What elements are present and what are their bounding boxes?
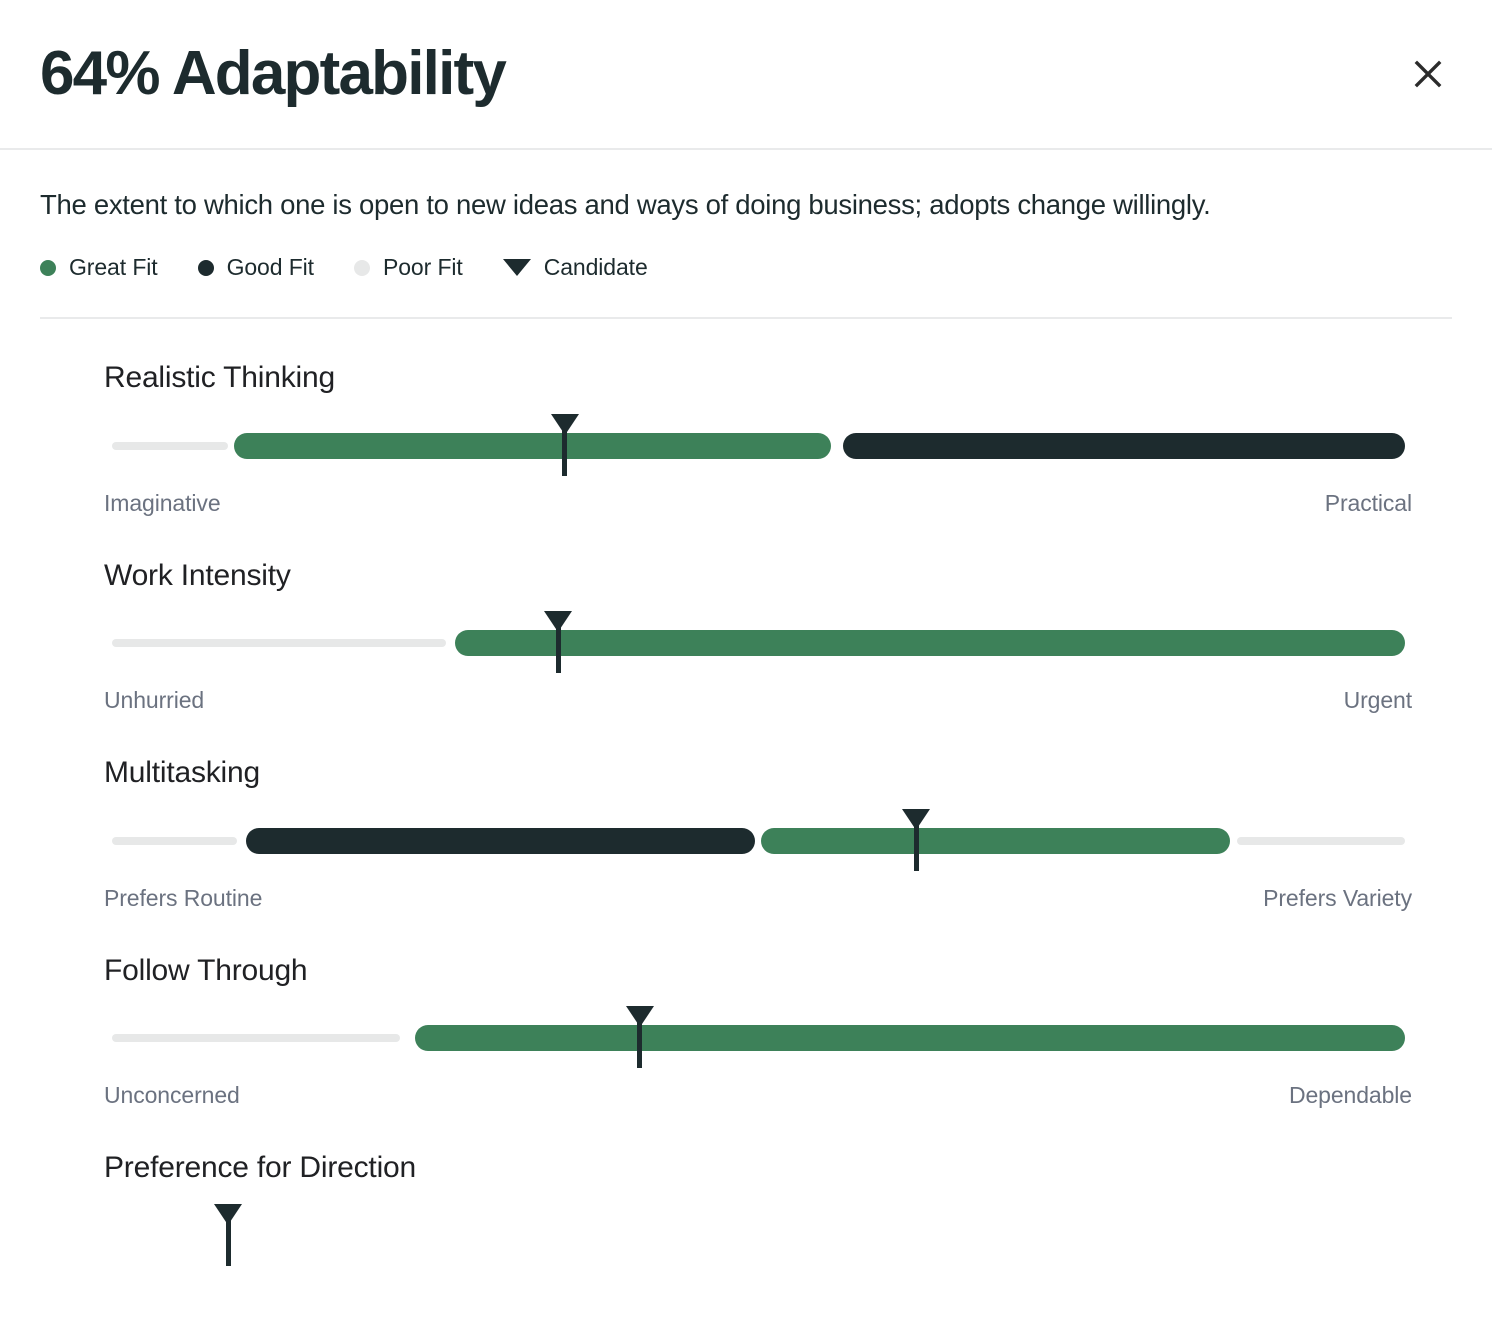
poor-fit-dot-icon <box>354 260 370 276</box>
trait-endpoints: ImaginativePractical <box>104 490 1412 517</box>
trait-row: MultitaskingPrefers RoutinePrefers Varie… <box>40 714 1452 912</box>
track-segments <box>112 1034 1405 1042</box>
trait-row: Realistic ThinkingImaginativePractical <box>40 319 1452 517</box>
trait-endpoints: UnhurriedUrgent <box>104 687 1412 714</box>
trait-track[interactable] <box>112 1006 1405 1068</box>
trait-endpoints: UnconcernedDependable <box>104 1082 1412 1109</box>
track-segment-green <box>234 433 831 459</box>
close-icon <box>1413 59 1443 89</box>
legend-label: Poor Fit <box>383 254 463 281</box>
candidate-triangle-icon <box>902 809 930 830</box>
track-segment-green <box>455 630 1405 656</box>
endpoint-label-left: Unconcerned <box>104 1082 240 1109</box>
candidate-triangle-icon <box>214 1204 242 1225</box>
endpoint-label-left: Prefers Routine <box>104 885 262 912</box>
trait-row: Work IntensityUnhurriedUrgent <box>40 517 1452 715</box>
track-segment-gray <box>1237 837 1405 845</box>
candidate-triangle-icon <box>551 414 579 435</box>
good-fit-dot-icon <box>198 260 214 276</box>
trait-endpoints: Prefers RoutinePrefers Variety <box>104 885 1412 912</box>
trait-name: Preference for Direction <box>104 1151 1452 1186</box>
track-segment-dark <box>843 433 1405 459</box>
trait-name: Realistic Thinking <box>104 361 1452 396</box>
trait-name: Work Intensity <box>104 559 1452 594</box>
candidate-triangle-icon <box>503 259 531 276</box>
candidate-stem <box>226 1220 231 1266</box>
legend-label: Candidate <box>544 254 648 281</box>
legend-item-poor-fit[interactable]: Poor Fit <box>354 254 463 281</box>
legend-item-great-fit[interactable]: Great Fit <box>40 254 158 281</box>
track-segment-green <box>761 828 1230 854</box>
endpoint-label-right: Practical <box>1325 490 1412 517</box>
legend-item-good-fit[interactable]: Good Fit <box>198 254 314 281</box>
legend-item-candidate[interactable]: Candidate <box>503 254 648 281</box>
trait-row: Preference for Direction <box>40 1109 1452 1266</box>
endpoint-label-right: Urgent <box>1344 687 1412 714</box>
track-segments <box>112 639 1405 647</box>
legend-label: Good Fit <box>227 254 314 281</box>
track-segments <box>112 837 1405 845</box>
trait-name: Multitasking <box>104 756 1452 791</box>
trait-track[interactable] <box>112 611 1405 673</box>
trait-track[interactable] <box>112 809 1405 871</box>
legend: Great Fit Good Fit Poor Fit Candidate <box>40 254 1452 281</box>
track-segments <box>112 1232 1405 1240</box>
adaptability-detail-modal: 64% Adaptability The extent to which one… <box>0 0 1492 1340</box>
modal-header: 64% Adaptability <box>0 0 1492 150</box>
track-segment-dark <box>246 828 754 854</box>
track-segment-gray <box>112 837 237 845</box>
trait-name: Follow Through <box>104 954 1452 989</box>
track-segment-gray <box>112 1034 400 1042</box>
endpoint-label-right: Prefers Variety <box>1263 885 1412 912</box>
endpoint-label-right: Dependable <box>1289 1082 1412 1109</box>
trait-description: The extent to which one is open to new i… <box>40 188 1452 222</box>
trait-track[interactable] <box>112 1204 1405 1266</box>
trait-row: Follow ThroughUnconcernedDependable <box>40 912 1452 1110</box>
page-title: 64% Adaptability <box>40 43 505 105</box>
candidate-triangle-icon <box>544 611 572 632</box>
track-segment-gray <box>112 639 446 647</box>
track-segments <box>112 442 1405 450</box>
endpoint-label-left: Unhurried <box>104 687 204 714</box>
trait-track[interactable] <box>112 414 1405 476</box>
trait-list: Realistic ThinkingImaginativePracticalWo… <box>0 319 1492 1266</box>
legend-label: Great Fit <box>69 254 158 281</box>
candidate-triangle-icon <box>626 1006 654 1027</box>
track-segment-green <box>415 1025 1405 1051</box>
intro-section: The extent to which one is open to new i… <box>0 150 1492 281</box>
track-segment-gray <box>112 442 228 450</box>
endpoint-label-left: Imaginative <box>104 490 221 517</box>
close-button[interactable] <box>1400 46 1456 102</box>
great-fit-dot-icon <box>40 260 56 276</box>
